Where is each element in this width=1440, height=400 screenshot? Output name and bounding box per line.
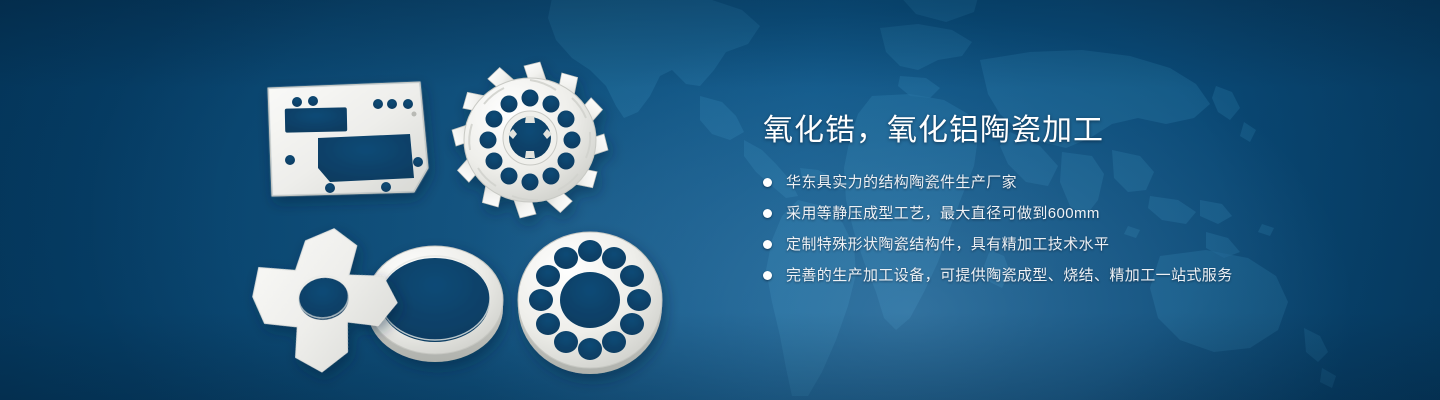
- feature-text: 定制特殊形状陶瓷结构件，具有精加工技术水平: [786, 234, 1109, 255]
- bullet-dot-icon: [763, 271, 772, 280]
- ceramic-impeller-part: [452, 62, 608, 218]
- bullet-dot-icon: [763, 209, 772, 218]
- feature-text: 完善的生产加工设备，可提供陶瓷成型、烧结、精加工一站式服务: [786, 265, 1233, 286]
- banner-copy: 氧化锆，氧化铝陶瓷加工 华东具实力的结构陶瓷件生产厂家 采用等静压成型工艺，最大…: [763, 112, 1383, 286]
- ceramic-cross-plate-part: [245, 221, 405, 379]
- list-item: 定制特殊形状陶瓷结构件，具有精加工技术水平: [763, 234, 1383, 255]
- feature-text: 华东具实力的结构陶瓷件生产厂家: [786, 172, 1017, 193]
- bullet-dot-icon: [763, 240, 772, 249]
- ceramic-perforated-disc-part: [518, 232, 662, 374]
- feature-text: 采用等静压成型工艺，最大直径可做到600mm: [786, 203, 1100, 224]
- feature-list: 华东具实力的结构陶瓷件生产厂家 采用等静压成型工艺，最大直径可做到600mm 定…: [763, 172, 1383, 286]
- list-item: 完善的生产加工设备，可提供陶瓷成型、烧结、精加工一站式服务: [763, 265, 1383, 286]
- ceramic-plate-part: [268, 82, 428, 196]
- bullet-dot-icon: [763, 178, 772, 187]
- list-item: 采用等静压成型工艺，最大直径可做到600mm: [763, 203, 1383, 224]
- ceramic-products-image: [0, 0, 720, 400]
- page-title: 氧化锆，氧化铝陶瓷加工: [763, 112, 1383, 150]
- list-item: 华东具实力的结构陶瓷件生产厂家: [763, 172, 1383, 193]
- promo-banner: 氧化锆，氧化铝陶瓷加工 华东具实力的结构陶瓷件生产厂家 采用等静压成型工艺，最大…: [0, 0, 1440, 400]
